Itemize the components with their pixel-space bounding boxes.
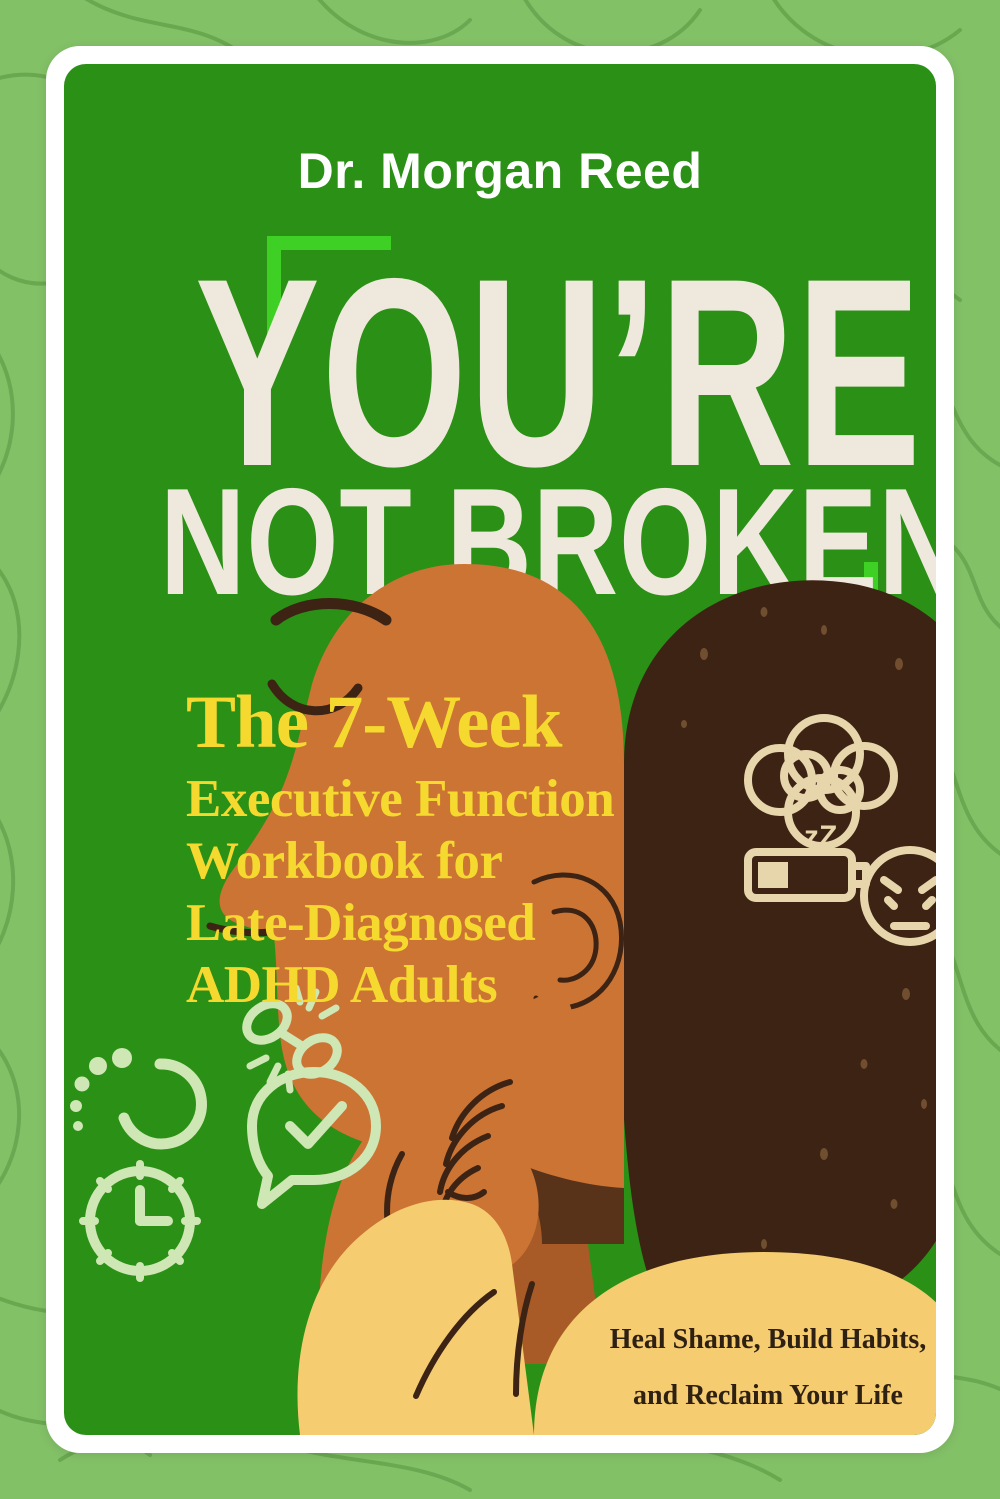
subtitle-line-4: ADHD Adults [186, 954, 716, 1016]
book-subtitle: The 7-Week Executive Function Workbook f… [186, 684, 716, 1016]
clock-icon [83, 1164, 197, 1278]
tagline-line-3: with Science-Based Tools [568, 1424, 936, 1435]
book-cover: Dr. Morgan Reed YOU’RE NOT BROKEN [0, 0, 1000, 1499]
tagline-line-2: and Reclaim Your Life [568, 1368, 936, 1424]
speech-bubble-check-icon [252, 1072, 376, 1204]
cover-tagline: Heal Shame, Build Habits, and Reclaim Yo… [568, 1312, 936, 1435]
subtitle-line-3: Late-Diagnosed [186, 892, 716, 954]
subtitle-line-2: Workbook for [186, 830, 716, 892]
cover-inner-card: Dr. Morgan Reed YOU’RE NOT BROKEN [64, 64, 936, 1435]
svg-text:zZ: zZ [804, 820, 837, 853]
angry-face-icon [864, 850, 936, 942]
subtitle-headline: The 7-Week [186, 684, 716, 762]
subtitle-detail: Executive Function Workbook for Late-Dia… [186, 768, 716, 1016]
loading-spinner-icon [70, 1048, 201, 1144]
tagline-line-1: Heal Shame, Build Habits, [568, 1312, 936, 1368]
subtitle-line-1: Executive Function [186, 768, 716, 830]
